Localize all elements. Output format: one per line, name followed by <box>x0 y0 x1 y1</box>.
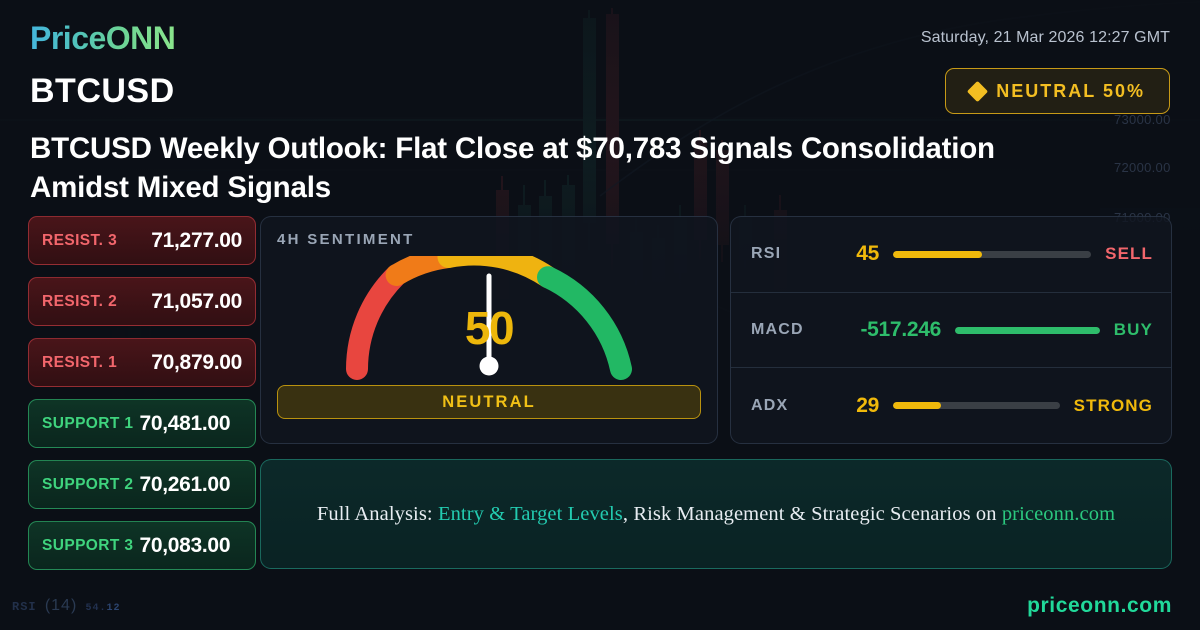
sentiment-gauge-title: 4H SENTIMENT <box>277 231 701 248</box>
level-value: 71,057.00 <box>151 290 242 314</box>
indicator-verdict: STRONG <box>1074 396 1153 416</box>
indicator-row-rsi: RSI45SELL <box>731 217 1171 292</box>
bg-footer-indicator-period: (14) <box>45 597 77 614</box>
bg-footer-indicator-name: RSI <box>12 600 37 614</box>
indicator-verdict: SELL <box>1105 244 1153 264</box>
sentiment-gauge: 50 <box>277 256 701 381</box>
indicator-value: 29 <box>833 394 879 418</box>
sentiment-gauge-value: 50 <box>465 305 513 351</box>
cta-link[interactable]: Entry & Target Levels <box>438 503 623 525</box>
level-value: 71,277.00 <box>151 229 242 253</box>
cta-prefix: Full Analysis: <box>317 503 438 525</box>
cta-middle: , Risk Management & Strategic Scenarios … <box>623 503 1002 525</box>
diamond-icon <box>967 80 988 101</box>
indicator-panel: RSI45SELLMACD-517.246BUYADX29STRONG <box>730 216 1172 444</box>
indicator-progress-fill <box>955 327 1100 334</box>
timestamp: Saturday, 21 Mar 2026 12:27 GMT <box>921 29 1170 47</box>
level-label: SUPPORT 3 <box>42 537 133 555</box>
indicator-value: -517.246 <box>833 318 941 342</box>
page-title: BTCUSD <box>30 72 175 111</box>
indicator-value: 45 <box>833 242 879 266</box>
level-value: 70,083.00 <box>139 534 230 558</box>
support-resistance-list: RESIST. 371,277.00RESIST. 271,057.00RESI… <box>28 216 256 570</box>
sentiment-gauge-panel: 4H SENTIMENT 50 NEUTRAL <box>260 216 718 444</box>
indicator-name: RSI <box>751 245 823 263</box>
indicator-verdict: BUY <box>1114 320 1153 340</box>
poster-root: 73000.00 72000.00 71000.00 RSI (14) 54.1… <box>0 0 1200 630</box>
indicator-name: ADX <box>751 397 823 415</box>
level-value: 70,261.00 <box>139 473 230 497</box>
header: PriceONN BTCUSD Saturday, 21 Mar 2026 12… <box>0 0 1200 210</box>
sentiment-verdict-pill: NEUTRAL <box>277 385 701 419</box>
status-badge-label: NEUTRAL 50% <box>996 81 1145 102</box>
indicator-progress-bar <box>955 327 1100 334</box>
bg-footer-indicator-value-b: 12 <box>106 603 120 614</box>
level-value: 70,879.00 <box>151 351 242 375</box>
level-card-resist-3: RESIST. 170,879.00 <box>28 338 256 387</box>
level-card-resist-2: RESIST. 271,057.00 <box>28 277 256 326</box>
level-card-resist-1: RESIST. 371,277.00 <box>28 216 256 265</box>
indicator-progress-fill <box>893 402 941 409</box>
level-card-support-4: SUPPORT 170,481.00 <box>28 399 256 448</box>
level-label: SUPPORT 2 <box>42 476 133 494</box>
sentiment-verdict-label: NEUTRAL <box>442 393 536 412</box>
indicator-name: MACD <box>751 321 823 339</box>
indicator-progress-bar <box>893 402 1060 409</box>
indicator-row-adx: ADX29STRONG <box>731 367 1171 443</box>
indicator-row-macd: MACD-517.246BUY <box>731 292 1171 368</box>
site-watermark: priceonn.com <box>1027 594 1172 618</box>
level-value: 70,481.00 <box>139 412 230 436</box>
indicator-progress-fill <box>893 251 982 258</box>
brand-logo: PriceONN <box>30 20 175 57</box>
status-badge: NEUTRAL 50% <box>945 68 1170 114</box>
cta-banner[interactable]: Full Analysis: Entry & Target Levels, Ri… <box>260 459 1172 569</box>
cta-site-link[interactable]: priceonn.com <box>1002 503 1115 525</box>
level-label: RESIST. 3 <box>42 232 117 250</box>
bg-footer-indicator-value-a: 54. <box>85 603 106 614</box>
level-label: RESIST. 1 <box>42 354 117 372</box>
cta-text: Full Analysis: Entry & Target Levels, Ri… <box>317 503 1115 526</box>
bg-footer-indicator: RSI (14) 54.12 <box>12 597 121 615</box>
level-card-support-6: SUPPORT 370,083.00 <box>28 521 256 570</box>
level-card-support-5: SUPPORT 270,261.00 <box>28 460 256 509</box>
indicator-progress-bar <box>893 251 1091 258</box>
headline: BTCUSD Weekly Outlook: Flat Close at $70… <box>30 129 1090 207</box>
level-label: RESIST. 2 <box>42 293 117 311</box>
level-label: SUPPORT 1 <box>42 415 133 433</box>
